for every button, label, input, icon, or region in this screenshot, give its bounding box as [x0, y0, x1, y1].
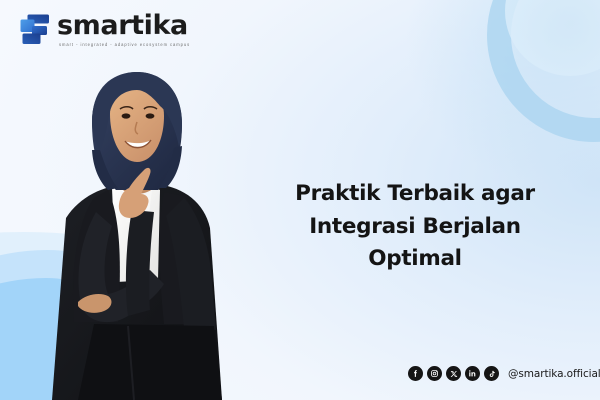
- headline-line-1: Praktik Terbaik agar: [270, 178, 560, 211]
- instagram-icon[interactable]: [427, 366, 442, 381]
- brand-tagline: smart - integrated - adaptive ecosystem …: [59, 43, 190, 47]
- headline-line-2: Integrasi Berjalan: [270, 211, 560, 244]
- brand-wordmark: smartika: [57, 12, 190, 39]
- model-photo: [8, 70, 258, 400]
- headline-line-3: Optimal: [270, 243, 560, 276]
- tiktok-icon[interactable]: [484, 366, 499, 381]
- x-twitter-icon[interactable]: [446, 366, 461, 381]
- linkedin-icon[interactable]: [465, 366, 480, 381]
- poster-canvas: smartika smart - integrated - adaptive e…: [0, 0, 600, 400]
- headline: Praktik Terbaik agar Integrasi Berjalan …: [270, 178, 560, 276]
- social-handle-text: @smartika.official: [508, 368, 600, 380]
- brand-lockup: smartika smart - integrated - adaptive e…: [20, 12, 190, 47]
- facebook-icon[interactable]: [408, 366, 423, 381]
- brand-text-block: smartika smart - integrated - adaptive e…: [57, 12, 190, 47]
- smartika-logo-icon: [20, 14, 50, 45]
- social-links-row: @smartika.official: [408, 366, 600, 381]
